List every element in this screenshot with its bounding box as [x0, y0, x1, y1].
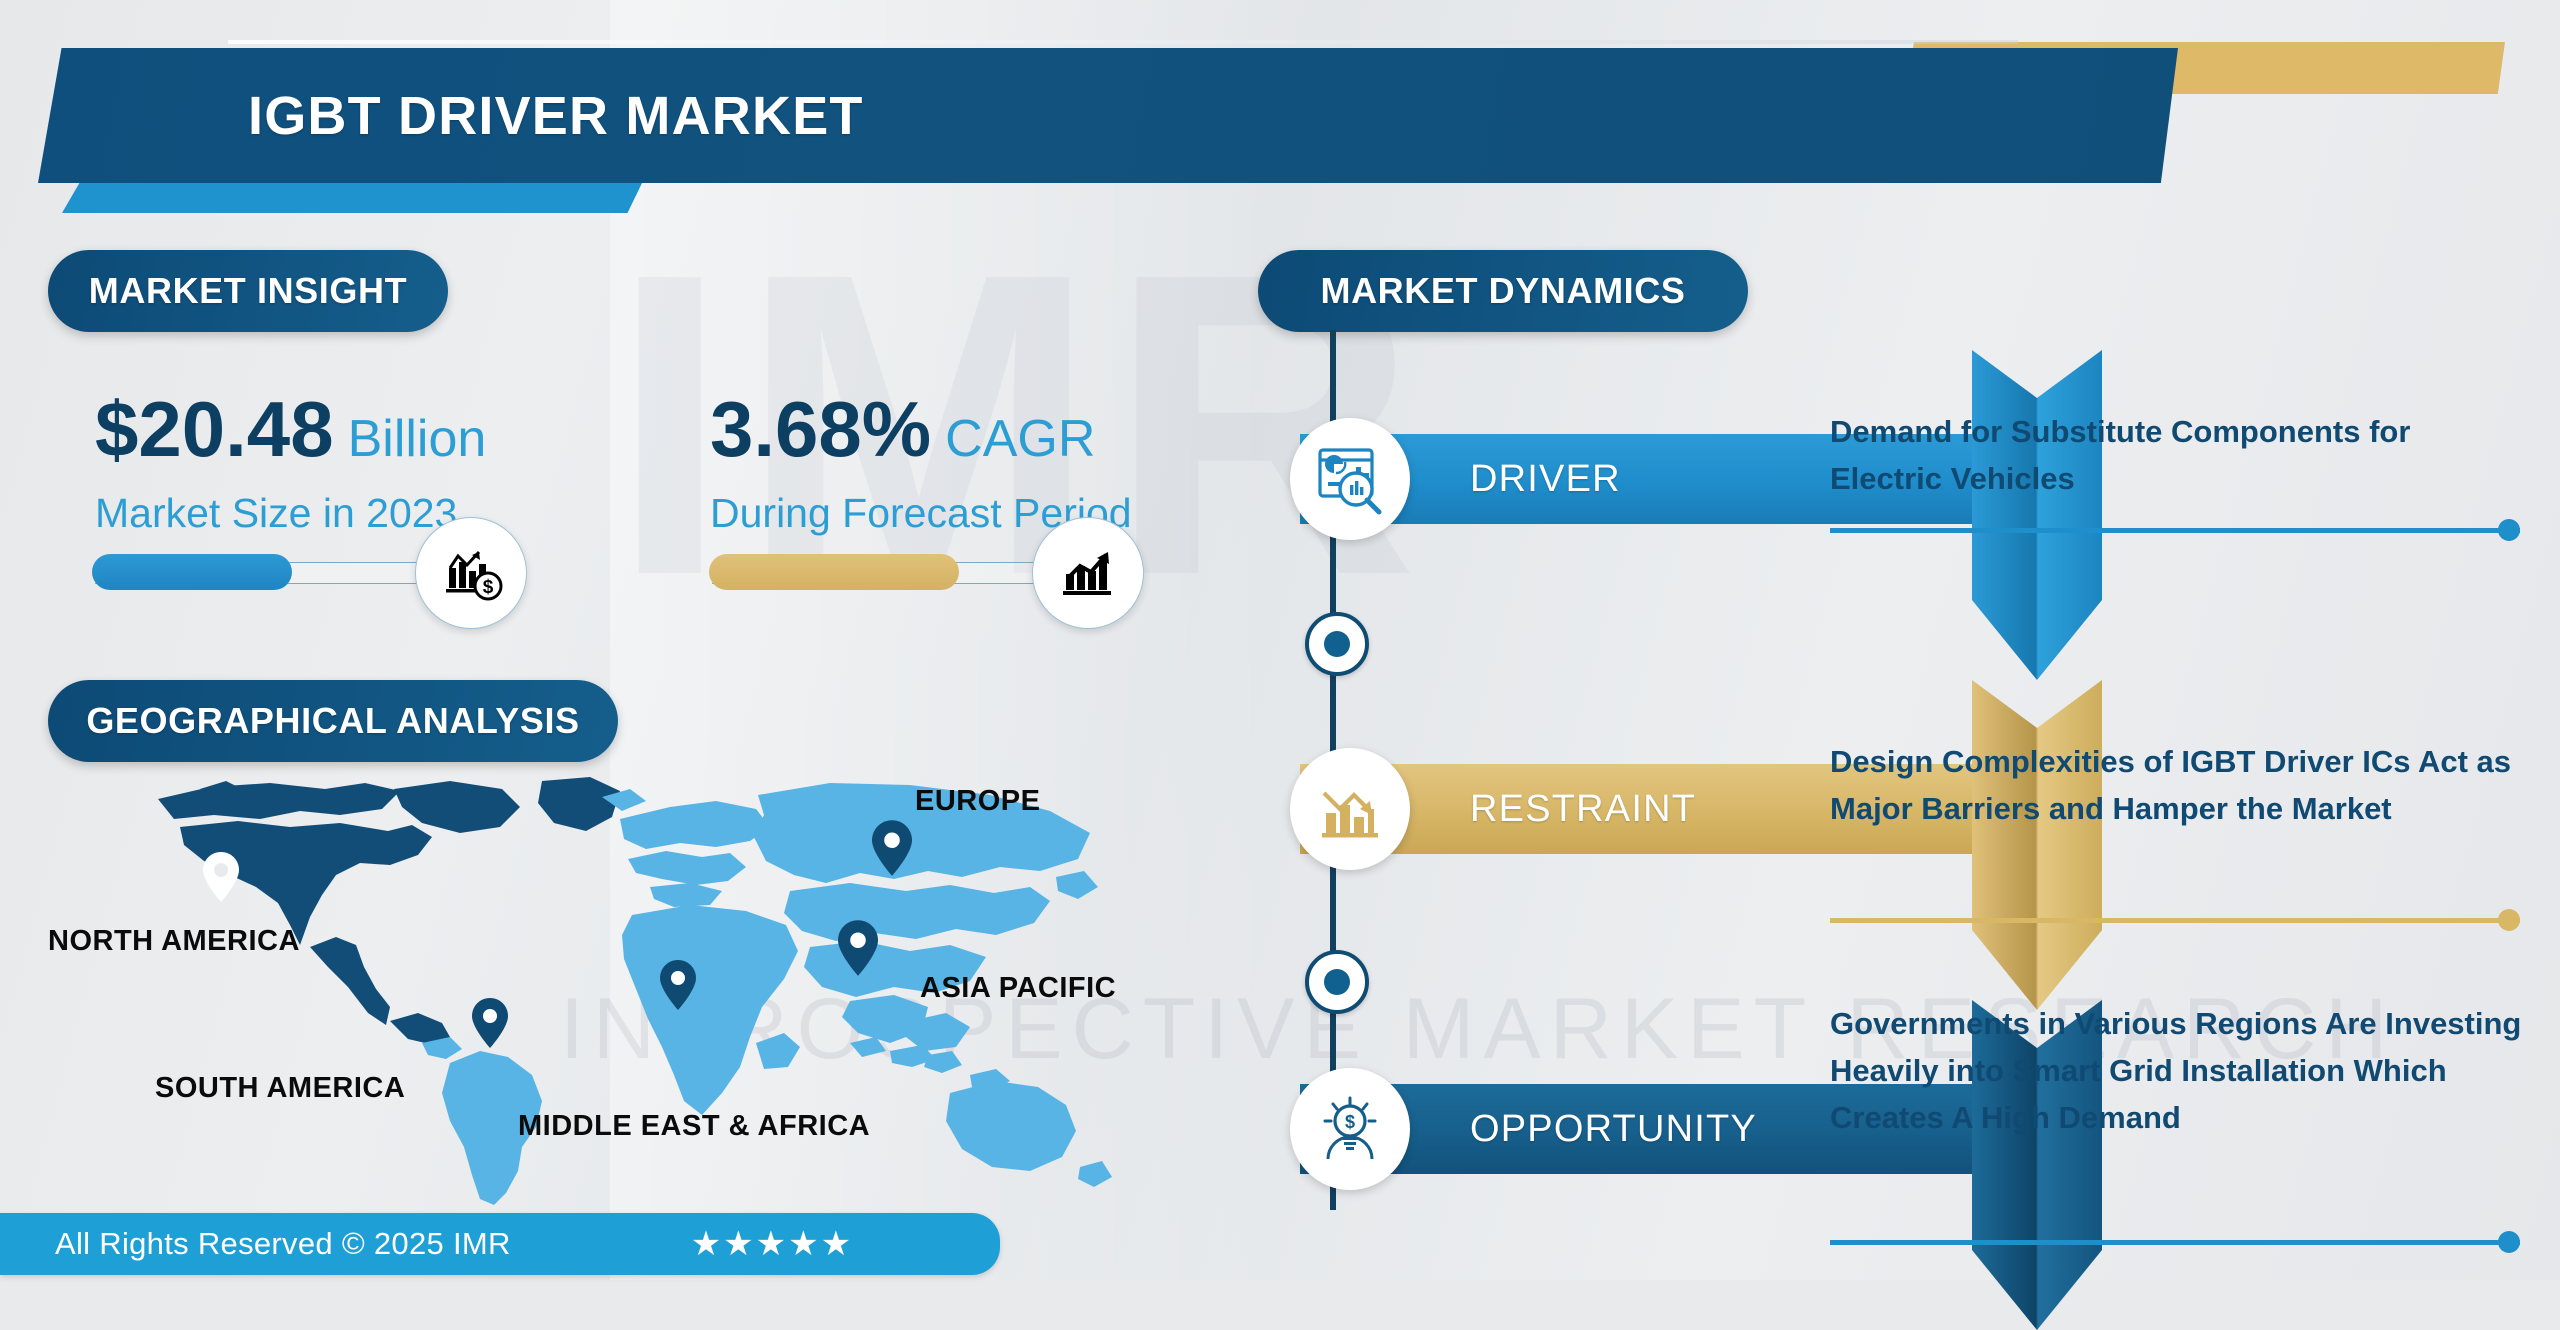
stat-unit: CAGR — [945, 410, 1095, 468]
map-label-north-america: NORTH AMERICA — [48, 925, 300, 958]
opportunity-end-dot — [2498, 1231, 2520, 1253]
report-analysis-magnifier-icon — [1290, 418, 1410, 540]
map-label-asia-pacific: ASIA PACIFIC — [920, 972, 1116, 1005]
svg-text:$: $ — [1345, 1112, 1355, 1132]
page-title: IGBT DRIVER MARKET — [248, 85, 864, 147]
opportunity-description: Governments in Various Regions Are Inves… — [1830, 1000, 2530, 1141]
restraint-end-dot — [2498, 909, 2520, 931]
map-pin-south-america — [472, 998, 508, 1048]
stat-market-size: $20.48Billion Market Size in 2023 — [95, 390, 486, 537]
progress-fill — [709, 554, 959, 590]
map-pin-asia-pacific — [838, 920, 878, 976]
restraint-description: Design Complexities of IGBT Driver ICs A… — [1830, 738, 2530, 832]
map-australia — [946, 1081, 1112, 1187]
svg-text:$: $ — [483, 577, 494, 598]
opportunity-underline — [1830, 1240, 2520, 1245]
footer-bar: All Rights Reserved © 2025 IMR ★★★★★ — [0, 1213, 1000, 1275]
map-label-south-america: SOUTH AMERICA — [155, 1072, 405, 1105]
driver-underline — [1830, 528, 2520, 533]
lightbulb-dollar-icon: $ — [1290, 1068, 1410, 1190]
cagr-progress-bar — [712, 562, 1082, 582]
restraint-label: RESTRAINT — [1470, 764, 1696, 854]
header-blue-accent-bar — [62, 183, 642, 213]
map-africa — [622, 905, 800, 1115]
stat-value: $20.48 — [95, 385, 334, 473]
declining-bar-chart-icon — [1290, 748, 1410, 870]
map-europe — [602, 789, 770, 907]
stat-sublabel: Market Size in 2023 — [95, 490, 486, 537]
stat-unit: Billion — [348, 410, 487, 468]
driver-description: Demand for Substitute Components for Ele… — [1830, 408, 2530, 502]
driver-label: DRIVER — [1470, 434, 1621, 524]
rating-stars: ★★★★★ — [691, 1224, 853, 1264]
copyright-text: All Rights Reserved © 2025 IMR — [55, 1226, 511, 1262]
map-pin-europe — [872, 820, 912, 876]
driver-end-dot — [2498, 519, 2520, 541]
map-pin-north-america — [203, 852, 239, 902]
progress-fill — [92, 554, 292, 590]
header-thin-line — [228, 40, 2018, 44]
map-label-europe: EUROPE — [915, 785, 1040, 818]
map-pin-middle-east-africa — [660, 960, 696, 1010]
stat-value: 3.68% — [710, 385, 931, 473]
market-size-progress-bar: $ — [95, 562, 465, 582]
geographical-analysis-heading: GEOGRAPHICAL ANALYSIS — [48, 680, 618, 762]
header-banner: IGBT DRIVER MARKET — [38, 48, 2178, 183]
map-asia — [754, 783, 1098, 1091]
timeline-node-1 — [1305, 612, 1369, 676]
stat-cagr: 3.68%CAGR During Forecast Period — [710, 390, 1132, 537]
bar-chart-dollar-icon: $ — [415, 517, 527, 629]
map-label-middle-east-africa: MIDDLE EAST & AFRICA — [518, 1110, 870, 1143]
map-greenland — [538, 777, 620, 831]
infographic-canvas: IMR INTROSPECTIVE MARKET RESEARCH IGBT D… — [0, 0, 2560, 1280]
market-insight-heading: MARKET INSIGHT — [48, 250, 448, 332]
growth-arrow-chart-icon — [1032, 517, 1144, 629]
opportunity-label: OPPORTUNITY — [1470, 1084, 1757, 1174]
restraint-underline — [1830, 918, 2520, 923]
timeline-node-2 — [1305, 950, 1369, 1014]
market-dynamics-heading: MARKET DYNAMICS — [1258, 250, 1748, 332]
map-north-america — [158, 781, 520, 1045]
